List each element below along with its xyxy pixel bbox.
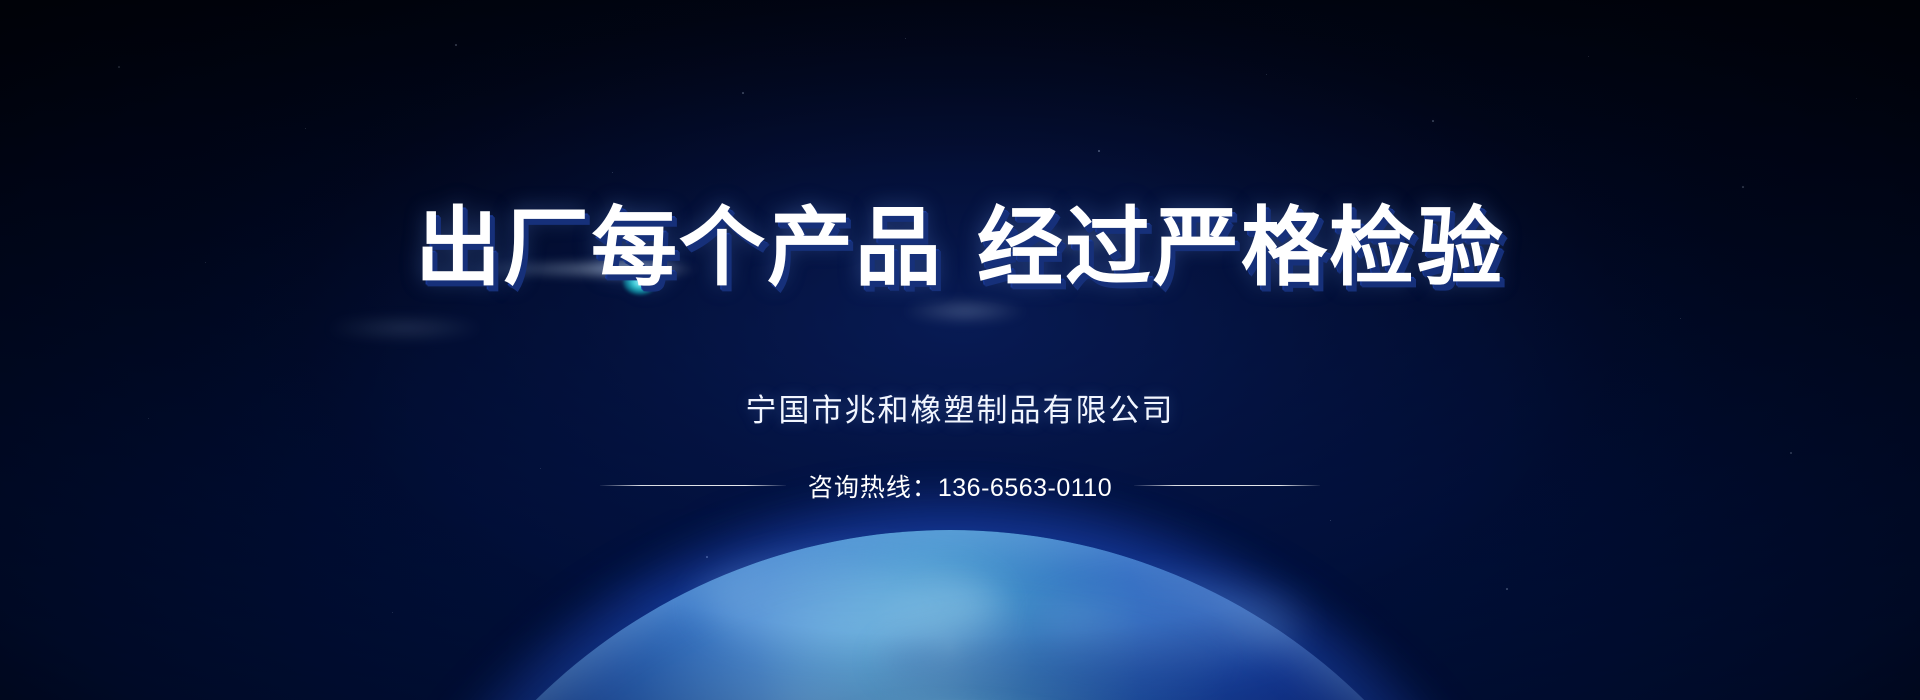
headline-part-1: 出厂每个产品 [415, 200, 943, 296]
headline: 出厂每个产品经过严格检验 [415, 205, 1505, 291]
hotline-row: 咨询热线：136-6563-0110 [600, 468, 1320, 504]
hotline-label: 咨询热线： [808, 474, 938, 502]
headline-part-2: 经过严格检验 [977, 200, 1505, 296]
rule-right [1134, 485, 1320, 486]
company-name: 宁国市兆和橡塑制品有限公司 [746, 385, 1175, 430]
banner-content: 出厂每个产品经过严格检验 宁国市兆和橡塑制品有限公司 咨询热线：136-6563… [0, 0, 1920, 700]
rule-left [600, 485, 786, 486]
hotline-text: 咨询热线：136-6563-0110 [808, 468, 1112, 504]
promo-banner: 出厂每个产品经过严格检验 宁国市兆和橡塑制品有限公司 咨询热线：136-6563… [0, 0, 1920, 700]
hotline-number[interactable]: 136-6563-0110 [938, 474, 1112, 502]
